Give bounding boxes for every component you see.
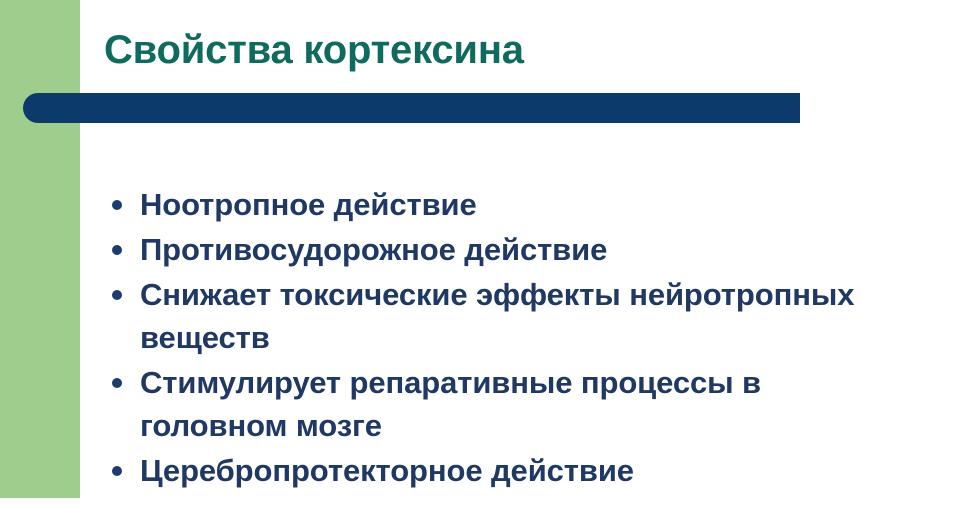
list-item-label: Ноотропное действие [140,183,910,226]
list-item: Ноотропное действие [110,183,910,226]
list-item-label: Снижает токсические эффекты нейротропных… [140,273,910,359]
bullet-list: Ноотропное действие Противосудорожное де… [110,183,910,494]
list-item-label: Церебропротекторное действие [140,449,910,492]
list-item: Стимулирует репаративные процессы в голо… [110,361,910,447]
list-item-label: Стимулирует репаративные процессы в голо… [140,361,910,447]
bullet-dot-icon [112,290,122,300]
list-item: Противосудорожное действие [110,228,910,271]
list-item: Снижает токсические эффекты нейротропных… [110,273,910,359]
bullet-dot-icon [112,200,122,210]
bullet-dot-icon [112,378,122,388]
title-underline-bar [23,93,800,123]
list-item-label: Противосудорожное действие [140,228,910,271]
page-title: Свойства кортексина [104,24,524,76]
bullet-dot-icon [112,466,122,476]
presentation-slide: Свойства кортексина Ноотропное действие … [0,0,960,508]
list-item: Церебропротекторное действие [110,449,910,492]
bullet-dot-icon [112,245,122,255]
left-green-band [0,0,80,498]
